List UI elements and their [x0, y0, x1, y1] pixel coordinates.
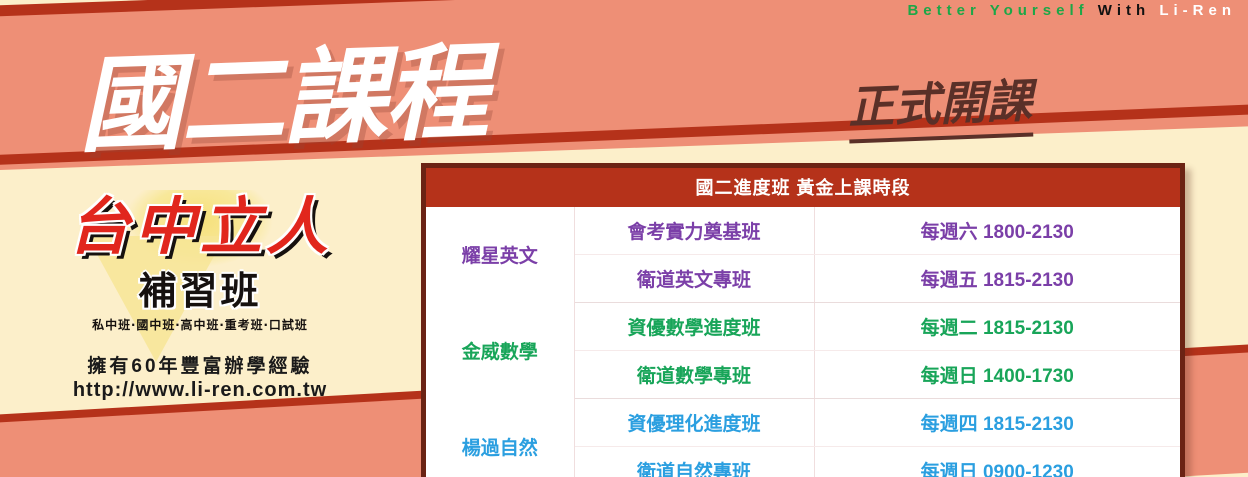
- schedule-table: 耀星英文會考實力奠基班每週六 1800-2130衛道英文專班每週五 1815-2…: [426, 207, 1180, 477]
- logo-website-url[interactable]: http://www.li-ren.com.tw: [30, 379, 370, 402]
- schedule-table-panel: 國二進度班 黃金上課時段 耀星英文會考實力奠基班每週六 1800-2130衛道英…: [421, 163, 1185, 477]
- logo-class-types: 私中班‧國中班‧高中班‧重考班‧口試班: [30, 316, 370, 333]
- schedule-class-cell: 會考實力奠基班: [574, 207, 814, 255]
- table-row: 金威數學資優數學進度班每週二 1815-2130: [426, 303, 1180, 351]
- schedule-class-cell: 資優理化進度班: [574, 399, 814, 447]
- schedule-class-cell: 衛道英文專班: [574, 255, 814, 303]
- schedule-subject-cell: 耀星英文: [426, 207, 574, 303]
- schedule-class-cell: 資優數學進度班: [574, 303, 814, 351]
- table-row: 耀星英文會考實力奠基班每週六 1800-2130: [426, 207, 1180, 255]
- schedule-class-cell: 衛道數學專班: [574, 351, 814, 399]
- schedule-class-cell: 衛道自然專班: [574, 447, 814, 477]
- schedule-time-cell: 每週五 1815-2130: [814, 255, 1180, 303]
- tagline-part-with: With: [1098, 2, 1150, 19]
- schedule-subject-cell: 金威數學: [426, 303, 574, 399]
- schedule-time-cell: 每週日 0900-1230: [814, 447, 1180, 477]
- schedule-time-cell: 每週日 1400-1730: [814, 351, 1180, 399]
- tagline-part-better-yourself: Better Yourself: [907, 2, 1088, 19]
- logo-school-type: 補習班: [30, 260, 370, 315]
- headline-subtitle: 正式開課: [847, 64, 1034, 143]
- logo-school-name: 台中立人: [30, 196, 370, 258]
- headline-title: 國二課程: [75, 7, 488, 172]
- schedule-time-cell: 每週六 1800-2130: [814, 207, 1180, 255]
- schedule-header-title: 國二進度班 黃金上課時段: [426, 168, 1180, 207]
- promotional-banner: Better Yourself With Li-Ren 國二課程 正式開課 台中…: [0, 0, 1248, 477]
- schedule-time-cell: 每週二 1815-2130: [814, 303, 1180, 351]
- tagline-part-li-ren: Li-Ren: [1159, 2, 1236, 19]
- logo-experience-text: 擁有60年豐富辦學經驗: [30, 351, 370, 378]
- school-logo-block: 台中立人 補習班 私中班‧國中班‧高中班‧重考班‧口試班 擁有60年豐富辦學經驗…: [30, 196, 370, 402]
- schedule-table-body: 耀星英文會考實力奠基班每週六 1800-2130衛道英文專班每週五 1815-2…: [426, 207, 1180, 477]
- table-row: 楊過自然資優理化進度班每週四 1815-2130: [426, 399, 1180, 447]
- schedule-time-cell: 每週四 1815-2130: [814, 399, 1180, 447]
- schedule-subject-cell: 楊過自然: [426, 399, 574, 477]
- brand-tagline: Better Yourself With Li-Ren: [907, 2, 1236, 19]
